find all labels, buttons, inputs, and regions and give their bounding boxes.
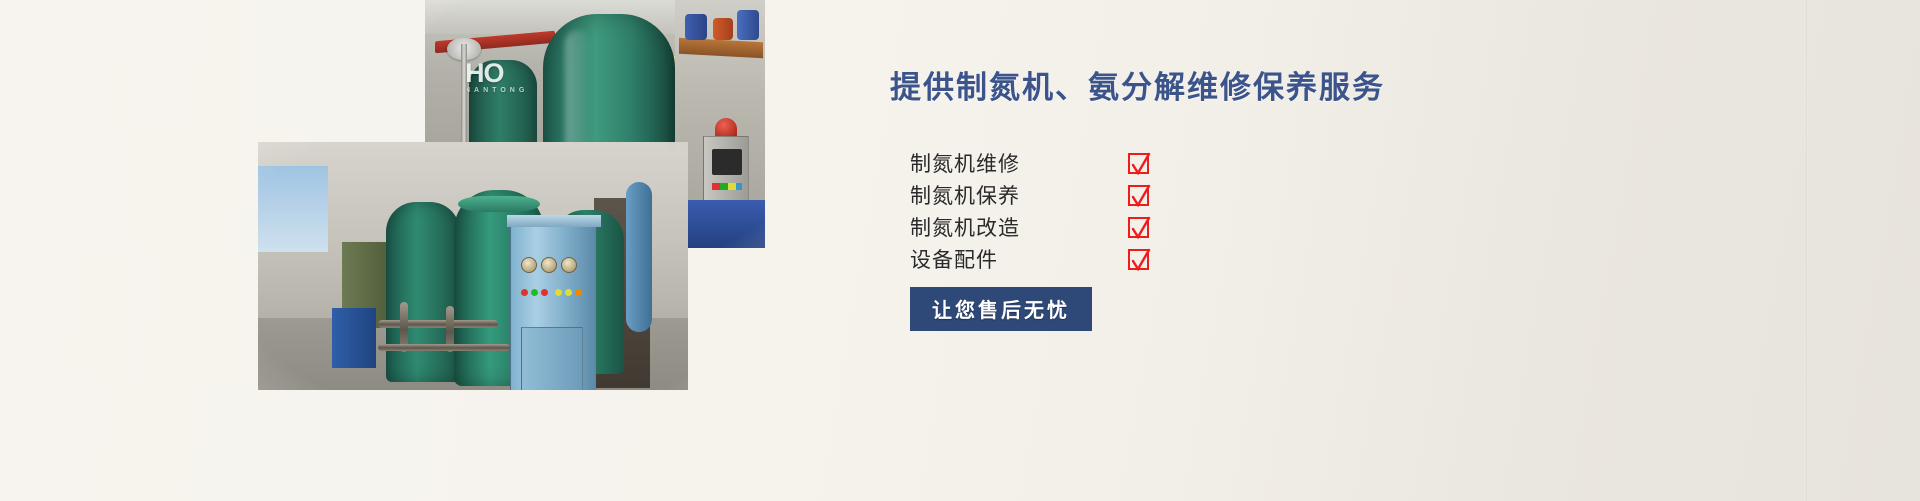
cabinet-top-shape [507, 215, 601, 227]
cabinet-door-shape [521, 327, 583, 390]
checkbox-checked-icon[interactable] [1128, 249, 1149, 270]
checkbox-checked-icon[interactable] [1128, 217, 1149, 238]
orange-barrel-shape [713, 18, 733, 40]
service-item-label: 制氮机改造 [910, 212, 1100, 242]
blue-equipment-shape [332, 308, 376, 368]
alarm-beacon-icon [715, 118, 737, 138]
service-list: 制氮机维修 制氮机保养 制氮机改造 [910, 147, 1504, 331]
service-item-label: 制氮机保养 [910, 180, 1100, 210]
cabinet-led-row [712, 183, 742, 190]
blue-drums-shape [675, 200, 765, 248]
service-item-label: 设备配件 [910, 244, 1100, 274]
service-item-row[interactable]: 制氮机保养 [910, 179, 1504, 211]
blue-barrel-shape [737, 10, 759, 40]
service-item-row[interactable]: 制氮机改造 [910, 211, 1504, 243]
service-item-label: 制氮机维修 [910, 148, 1100, 178]
banner-title: 提供制氮机、氨分解维修保养服务 [890, 62, 1504, 107]
banner-content: 提供制氮机、氨分解维修保养服务 制氮机维修 制氮机保养 [884, 62, 1504, 392]
service-banner: HO NANTONG [0, 0, 1920, 501]
tank-brand-text: HO [465, 58, 504, 88]
tank-brand-logo: HO NANTONG [465, 58, 553, 94]
photo-nitrogen-plant-bottom [258, 142, 688, 390]
blue-wall-shape [258, 166, 328, 252]
pressure-gauges [521, 257, 587, 277]
pipe-segment [378, 344, 510, 351]
blue-column-shape [626, 182, 652, 332]
tank-cap-shape [458, 196, 540, 212]
cta-button[interactable]: 让您售后无忧 [910, 287, 1092, 331]
service-item-row[interactable]: 制氮机维修 [910, 147, 1504, 179]
checkbox-checked-icon[interactable] [1128, 153, 1149, 174]
cabinet-screen-shape [712, 149, 742, 175]
tank-brand-subtext: NANTONG [465, 87, 553, 94]
cta-wrapper: 让您售后无忧 [910, 275, 1504, 331]
checkbox-checked-icon[interactable] [1128, 185, 1149, 206]
indicator-lights [521, 283, 587, 291]
control-cabinet-shape [510, 222, 596, 390]
service-item-row[interactable]: 设备配件 [910, 243, 1504, 275]
pipework-shape [378, 302, 528, 362]
blue-barrel-shape [685, 14, 707, 40]
pipe-segment [378, 320, 498, 328]
